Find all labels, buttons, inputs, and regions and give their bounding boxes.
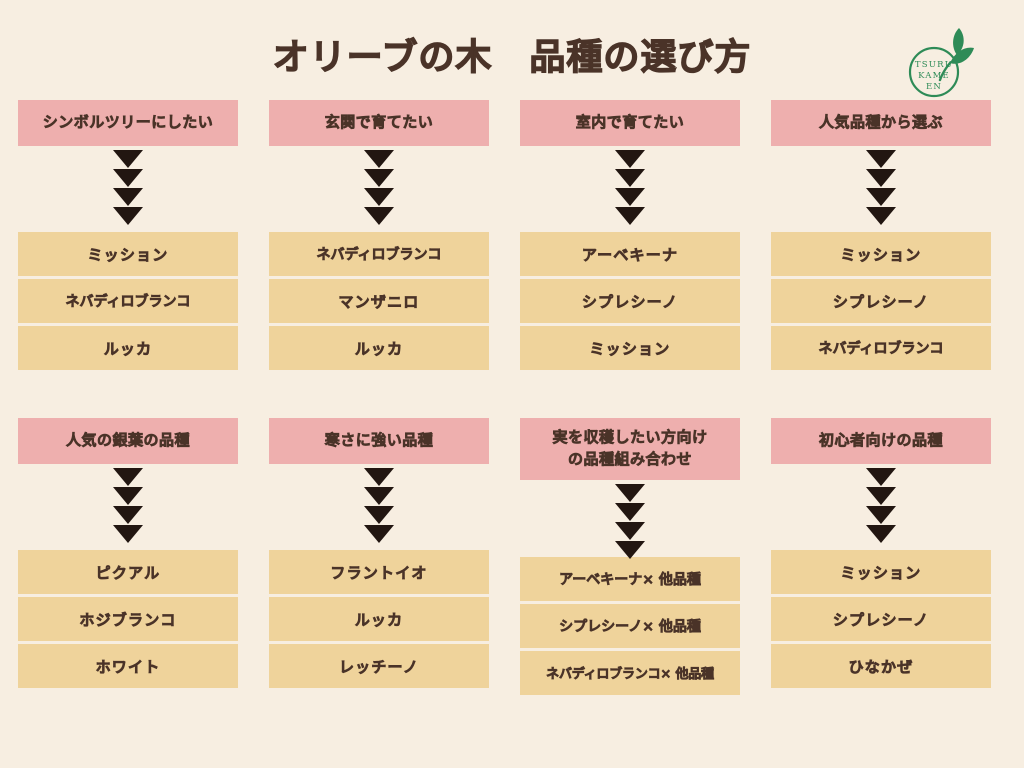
- arrow-stack: [18, 464, 238, 550]
- column-cold-hardy: 寒さに強い品種 フラントイオ ルッカ レッチーノ: [269, 418, 489, 688]
- column-header[interactable]: 初心者向けの品種: [771, 418, 991, 464]
- column-header-line: 初心者向けの品種: [777, 430, 985, 452]
- column-indoor: 室内で育てたい アーベキーナ シプレシーノ ミッション: [520, 100, 740, 370]
- variety-item[interactable]: ひなかぜ: [771, 644, 991, 688]
- variety-item[interactable]: シプレシーノ: [771, 597, 991, 641]
- chevron-down-icon: [866, 207, 896, 225]
- chevron-down-icon: [113, 169, 143, 187]
- variety-item[interactable]: ホワイト: [18, 644, 238, 688]
- arrow-stack: [771, 146, 991, 232]
- arrow-stack: [520, 146, 740, 232]
- chevron-down-icon: [615, 207, 645, 225]
- column-silver-leaf: 人気の銀葉の品種 ピクアル ホジブランコ ホワイト: [18, 418, 238, 688]
- variety-item[interactable]: シプレシーノ× 他品種: [520, 604, 740, 648]
- chevron-down-icon: [113, 188, 143, 206]
- chevron-down-icon: [364, 525, 394, 543]
- column-symbol-tree: シンボルツリーにしたい ミッション ネバディロブランコ ルッカ: [18, 100, 238, 370]
- column-fruit-harvest-combination: 実を収穫したい方向け の品種組み合わせ アーベキーナ× 他品種 シプレシーノ× …: [520, 418, 740, 695]
- variety-list: ネバディロブランコ マンザニロ ルッカ: [269, 232, 489, 370]
- logo-line-3: EN: [926, 82, 942, 92]
- column-header-line: 人気の銀葉の品種: [24, 430, 232, 452]
- chevron-down-icon: [615, 150, 645, 168]
- variety-list: アーベキーナ シプレシーノ ミッション: [520, 232, 740, 370]
- chevron-down-icon: [113, 506, 143, 524]
- chevron-down-icon: [615, 188, 645, 206]
- chevron-down-icon: [113, 207, 143, 225]
- variety-item[interactable]: ピクアル: [18, 550, 238, 594]
- variety-item[interactable]: ミッション: [771, 232, 991, 276]
- chevron-down-icon: [615, 541, 645, 559]
- chevron-down-icon: [113, 150, 143, 168]
- column-header[interactable]: 人気の銀葉の品種: [18, 418, 238, 464]
- chevron-down-icon: [866, 487, 896, 505]
- chevron-down-icon: [615, 169, 645, 187]
- chevron-down-icon: [113, 468, 143, 486]
- variety-list: ミッション シプレシーノ ひなかぜ: [771, 550, 991, 688]
- variety-item[interactable]: アーベキーナ: [520, 232, 740, 276]
- variety-item[interactable]: レッチーノ: [269, 644, 489, 688]
- column-popular-varieties: 人気品種から選ぶ ミッション シプレシーノ ネバディロブランコ: [771, 100, 991, 370]
- column-entrance: 玄関で育てたい ネバディロブランコ マンザニロ ルッカ: [269, 100, 489, 370]
- chevron-down-icon: [364, 188, 394, 206]
- brand-logo: TSURU KAME EN: [896, 22, 1000, 102]
- chevron-down-icon: [364, 169, 394, 187]
- variety-list: アーベキーナ× 他品種 シプレシーノ× 他品種 ネバディロブランコ× 他品種: [520, 557, 740, 695]
- column-header-line: 寒さに強い品種: [275, 430, 483, 452]
- variety-item[interactable]: アーベキーナ× 他品種: [520, 557, 740, 601]
- variety-list: フラントイオ ルッカ レッチーノ: [269, 550, 489, 688]
- chevron-down-icon: [615, 522, 645, 540]
- chevron-down-icon: [364, 468, 394, 486]
- variety-item[interactable]: フラントイオ: [269, 550, 489, 594]
- variety-item[interactable]: ネバディロブランコ× 他品種: [520, 651, 740, 695]
- column-header[interactable]: 実を収穫したい方向け の品種組み合わせ: [520, 418, 740, 480]
- chevron-down-icon: [866, 169, 896, 187]
- chevron-down-icon: [364, 150, 394, 168]
- variety-item[interactable]: ミッション: [18, 232, 238, 276]
- column-header[interactable]: 寒さに強い品種: [269, 418, 489, 464]
- chevron-down-icon: [866, 188, 896, 206]
- chevron-down-icon: [113, 525, 143, 543]
- chevron-down-icon: [615, 503, 645, 521]
- chevron-down-icon: [364, 487, 394, 505]
- arrow-stack: [771, 464, 991, 550]
- logo-line-1: TSURU: [915, 60, 953, 70]
- chevron-down-icon: [866, 525, 896, 543]
- board-row: シンボルツリーにしたい ミッション ネバディロブランコ ルッカ 玄関で育てたい: [0, 100, 1024, 400]
- arrow-stack: [18, 146, 238, 232]
- column-header-line: 人気品種から選ぶ: [777, 112, 985, 134]
- variety-item[interactable]: ルッカ: [269, 326, 489, 370]
- board-row: 人気の銀葉の品種 ピクアル ホジブランコ ホワイト 寒さに強い品種: [0, 418, 1024, 718]
- variety-item[interactable]: ホジブランコ: [18, 597, 238, 641]
- chevron-down-icon: [364, 506, 394, 524]
- column-header-line: 実を収穫したい方向け: [526, 427, 734, 449]
- chevron-down-icon: [113, 487, 143, 505]
- chevron-down-icon: [364, 207, 394, 225]
- chevron-down-icon: [866, 506, 896, 524]
- chevron-down-icon: [866, 150, 896, 168]
- variety-item[interactable]: ミッション: [771, 550, 991, 594]
- variety-item[interactable]: ネバディロブランコ: [269, 232, 489, 276]
- variety-list: ミッション ネバディロブランコ ルッカ: [18, 232, 238, 370]
- variety-item[interactable]: シプレシーノ: [771, 279, 991, 323]
- variety-item[interactable]: ネバディロブランコ: [18, 279, 238, 323]
- chevron-down-icon: [615, 484, 645, 502]
- column-header-line: 室内で育てたい: [526, 112, 734, 134]
- column-header[interactable]: 玄関で育てたい: [269, 100, 489, 146]
- column-header-line: 玄関で育てたい: [275, 112, 483, 134]
- arrow-stack: [269, 464, 489, 550]
- column-header[interactable]: 室内で育てたい: [520, 100, 740, 146]
- variety-selection-board: シンボルツリーにしたい ミッション ネバディロブランコ ルッカ 玄関で育てたい: [0, 100, 1024, 740]
- variety-item[interactable]: ネバディロブランコ: [771, 326, 991, 370]
- chevron-down-icon: [866, 468, 896, 486]
- column-header-line: の品種組み合わせ: [526, 449, 734, 471]
- arrow-stack: [520, 480, 740, 557]
- column-beginner-friendly: 初心者向けの品種 ミッション シプレシーノ ひなかぜ: [771, 418, 991, 688]
- variety-item[interactable]: ルッカ: [269, 597, 489, 641]
- page-title: オリーブの木 品種の選び方: [0, 28, 1024, 80]
- column-header[interactable]: シンボルツリーにしたい: [18, 100, 238, 146]
- variety-item[interactable]: シプレシーノ: [520, 279, 740, 323]
- variety-list: ピクアル ホジブランコ ホワイト: [18, 550, 238, 688]
- variety-item[interactable]: ミッション: [520, 326, 740, 370]
- variety-item[interactable]: マンザニロ: [269, 279, 489, 323]
- arrow-stack: [269, 146, 489, 232]
- variety-list: ミッション シプレシーノ ネバディロブランコ: [771, 232, 991, 370]
- logo-line-2: KAME: [918, 71, 950, 81]
- column-header[interactable]: 人気品種から選ぶ: [771, 100, 991, 146]
- column-header-line: シンボルツリーにしたい: [24, 112, 232, 134]
- variety-item[interactable]: ルッカ: [18, 326, 238, 370]
